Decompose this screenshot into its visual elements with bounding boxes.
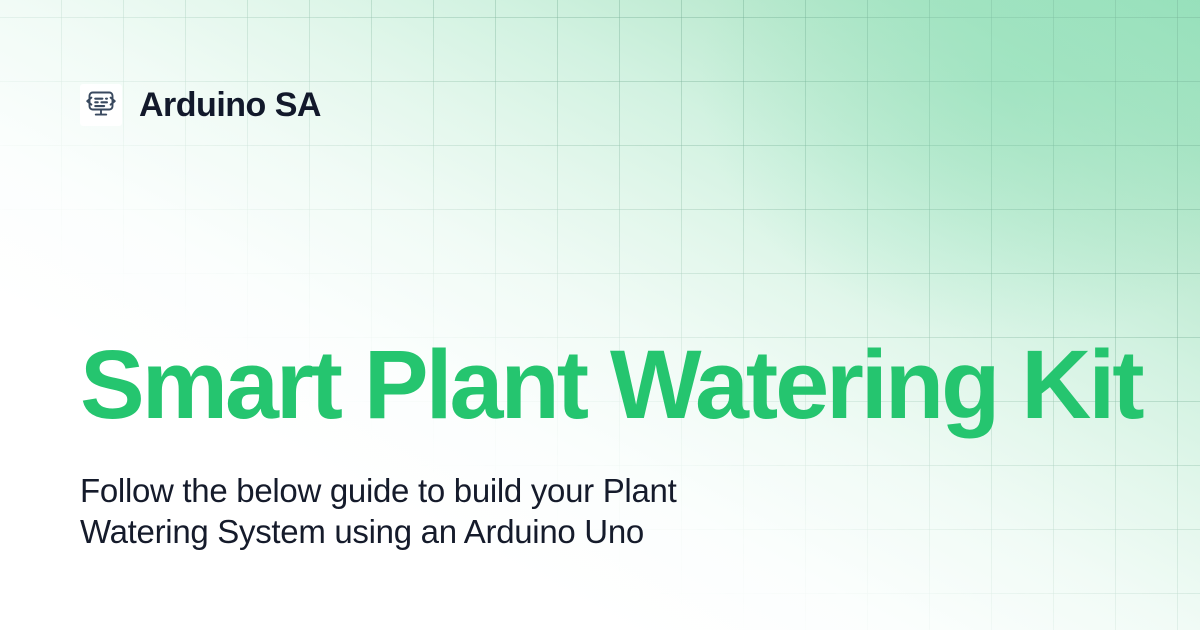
card-content: Arduino SA Smart Plant Watering Kit Foll… [0, 0, 1200, 630]
page-subtitle: Follow the below guide to build your Pla… [80, 470, 800, 552]
brand-name: Arduino SA [139, 88, 321, 122]
subtitle-line-2: Watering System using an Arduino Uno [80, 511, 800, 552]
subtitle-line-1: Follow the below guide to build your Pla… [80, 470, 800, 511]
page-title: Smart Plant Watering Kit [80, 336, 1142, 433]
brand-lockup: Arduino SA [80, 84, 321, 126]
og-card: Arduino SA Smart Plant Watering Kit Foll… [0, 0, 1200, 630]
code-monitor-icon [80, 84, 122, 126]
